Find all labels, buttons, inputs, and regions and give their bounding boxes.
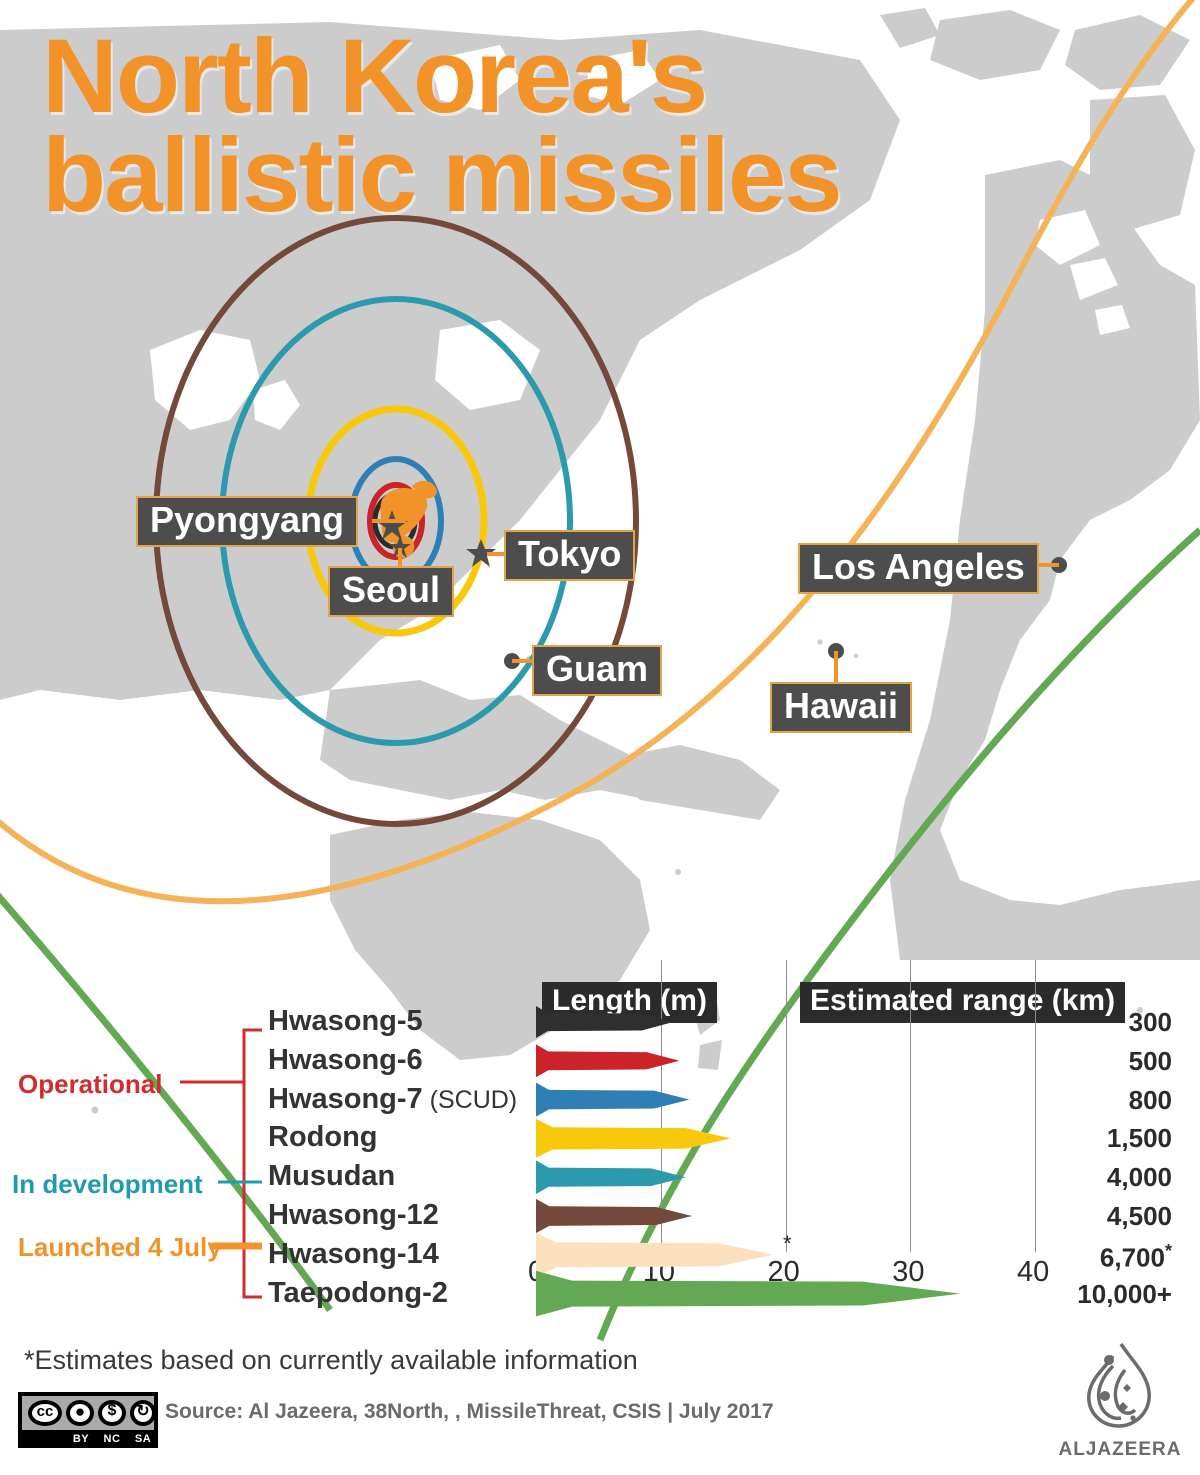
missile-name-hwasong-5: Hwasong-5 — [268, 1007, 423, 1036]
aj-flame-icon — [1055, 1340, 1185, 1440]
nc-glyph: $ — [98, 1402, 126, 1420]
range-asterisk: * — [1165, 1241, 1172, 1261]
missile-name-hwasong-7: Hwasong-7 (SCUD) — [268, 1085, 517, 1114]
range-value-hwasong-12: 4,500 — [1107, 1203, 1172, 1229]
missile-name-hwasong-12: Hwasong-12 — [268, 1201, 439, 1230]
range-value-hwasong-14: 6,700* — [1100, 1242, 1172, 1271]
title-line-1: North Korea's — [42, 28, 841, 127]
missile-shape-rodong — [536, 1119, 731, 1158]
missile-name-hwasong-6: Hwasong-6 — [268, 1046, 423, 1075]
cc-label: cc — [28, 1403, 62, 1420]
title-line-2: ballistic missiles — [42, 127, 841, 226]
missile-shape-taepodong-2 — [536, 1271, 960, 1317]
missile-name-rodong: Rodong — [268, 1123, 378, 1152]
missile-shape-hwasong-14 — [536, 1233, 773, 1277]
source-line: Source: Al Jazeera, 38North, , MissileTh… — [165, 1400, 774, 1424]
sa-glyph: ↻ — [130, 1401, 156, 1421]
missile-shape-musudan — [536, 1160, 686, 1194]
status-label-launched: Launched 4 July — [18, 1232, 222, 1263]
cc-nc-text: NC — [99, 1433, 125, 1445]
range-value-musudan: 4,000 — [1107, 1164, 1172, 1190]
range-value-rodong: 1,500 — [1107, 1125, 1172, 1151]
al-jazeera-wordmark: ALJAZEERA — [1055, 1439, 1185, 1461]
missile-silhouettes: * — [0, 960, 1200, 1360]
missile-shape-hwasong-12 — [536, 1199, 692, 1233]
page-title: North Korea's ballistic missiles — [42, 28, 841, 225]
by-glyph: ● — [66, 1402, 94, 1422]
missile-shape-hwasong-6 — [536, 1044, 679, 1077]
footer: *Estimates based on currently available … — [0, 1340, 1200, 1475]
range-value-taepodong-2: 10,000+ — [1077, 1281, 1172, 1307]
city-label-pyongyang: Pyongyang — [136, 496, 358, 547]
creative-commons-badge: cc ● $ ↻ BY NC SA — [18, 1392, 158, 1448]
range-value-hwasong-6: 500 — [1129, 1048, 1172, 1074]
cc-sa-text: SA — [130, 1433, 156, 1445]
missile-name-taepodong-2: Taepodong-2 — [268, 1279, 448, 1308]
missile-name-sub: (SCUD) — [423, 1086, 517, 1114]
cc-by-text: BY — [68, 1433, 94, 1445]
status-label-operational: Operational — [18, 1069, 162, 1100]
al-jazeera-logo: ALJAZEERA — [1055, 1340, 1185, 1465]
missile-shape-hwasong-7 — [536, 1083, 689, 1117]
city-label-los-angeles: Los Angeles — [798, 543, 1039, 594]
city-label-hawaii: Hawaii — [770, 682, 912, 733]
range-value-hwasong-7: 800 — [1129, 1087, 1172, 1113]
range-value-hwasong-5: 300 — [1129, 1009, 1172, 1035]
missile-name-hwasong-14: Hwasong-14 — [268, 1240, 439, 1269]
infographic-root: North Korea's ballistic missiles Pyongya… — [0, 0, 1200, 1475]
city-label-tokyo: Tokyo — [504, 530, 635, 581]
length-asterisk: * — [783, 1231, 792, 1256]
city-label-seoul: Seoul — [328, 566, 454, 617]
missile-name-musudan: Musudan — [268, 1162, 395, 1191]
missile-chart: Length (m) Estimated range (km) 01020304… — [0, 960, 1200, 1360]
missile-shape-hwasong-5 — [536, 1006, 673, 1038]
city-label-guam: Guam — [532, 645, 662, 696]
status-label-in-development: In development — [12, 1169, 203, 1200]
estimates-note: *Estimates based on currently available … — [24, 1345, 638, 1376]
